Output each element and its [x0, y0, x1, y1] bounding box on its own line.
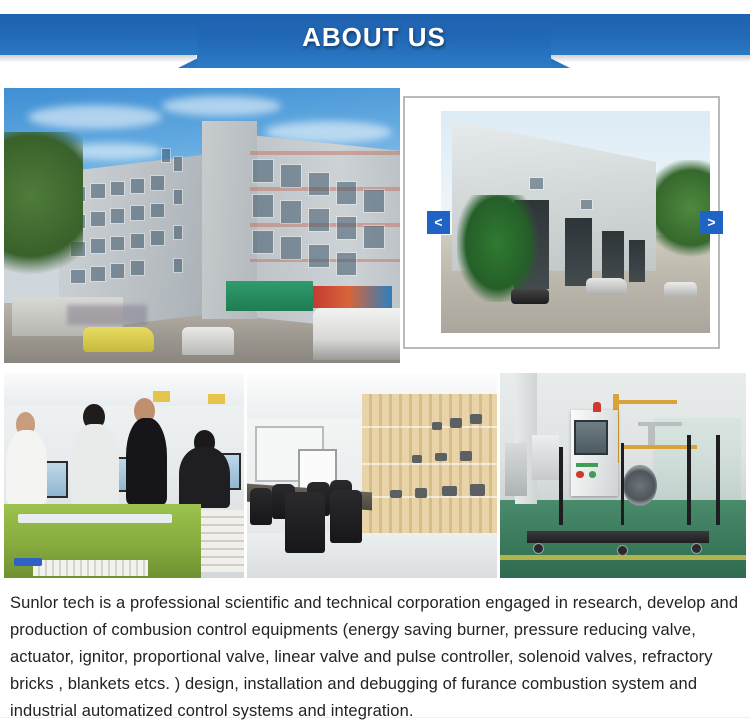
- about-description: Sunlor tech is a professional scientific…: [10, 590, 742, 724]
- featured-image-office-building: [4, 88, 400, 363]
- thumbnail-combustion-equipment[interactable]: [500, 373, 746, 578]
- bottom-divider: [0, 717, 750, 718]
- carousel-next-icon[interactable]: >: [700, 211, 723, 234]
- about-us-page: ABOUT US: [0, 0, 750, 724]
- carousel-prev-icon[interactable]: <: [427, 211, 450, 234]
- section-banner: ABOUT US: [0, 0, 750, 82]
- secondary-image-factory-workshops: [441, 111, 710, 333]
- thumbnail-meeting-room[interactable]: [247, 373, 497, 578]
- page-title: ABOUT US: [197, 20, 551, 54]
- banner-fold-shadow-right: [544, 55, 750, 62]
- banner-fold-shadow-left: [0, 55, 196, 62]
- thumbnail-office[interactable]: [4, 373, 244, 578]
